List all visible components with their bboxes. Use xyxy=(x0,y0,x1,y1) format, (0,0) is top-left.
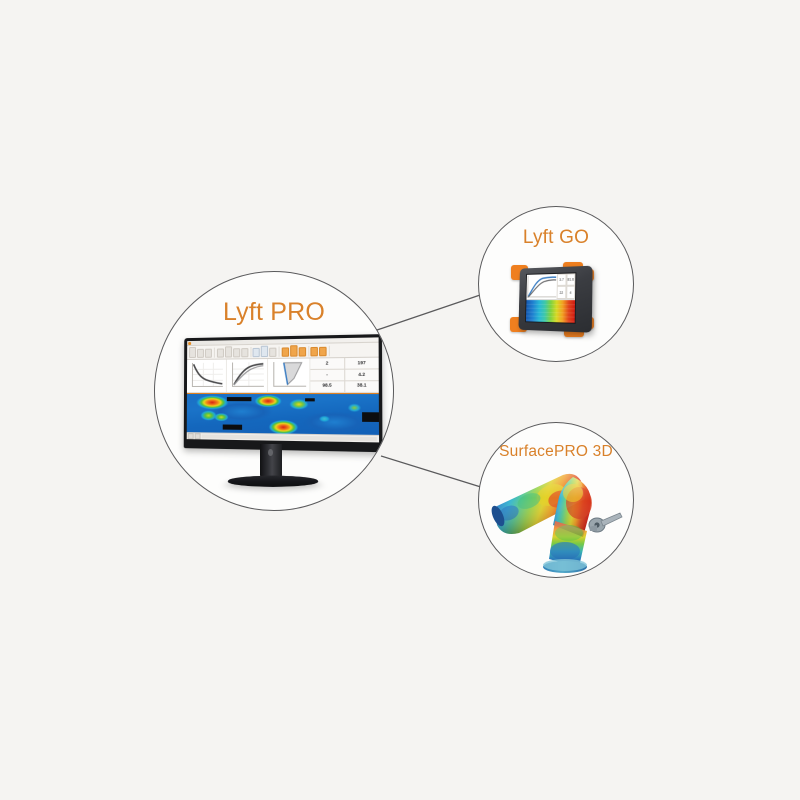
ribbon-icon[interactable] xyxy=(310,346,318,356)
plot-area xyxy=(192,363,223,387)
connector-lines xyxy=(0,0,800,800)
plot-area xyxy=(273,362,306,387)
tablet-readout-cell: 81.6 xyxy=(566,273,575,286)
readout-cell: 4.2 xyxy=(345,369,379,380)
bscan-heatmap[interactable] xyxy=(187,393,379,435)
readout-value: 197 xyxy=(358,361,366,366)
status-icon xyxy=(195,433,201,439)
ribbon-group-view[interactable] xyxy=(216,346,251,357)
status-icon xyxy=(188,433,194,439)
node-surfacepro-3d[interactable]: SurfacePRO 3D xyxy=(478,422,634,578)
plot-area xyxy=(232,362,264,387)
readout-cell: 197 xyxy=(345,358,379,369)
ribbon-group-file[interactable] xyxy=(189,347,215,357)
tablet-screen[interactable]: 3.7 81.6 22 4 xyxy=(525,272,576,324)
readout-value: 2 xyxy=(326,361,329,366)
tablet-readout-cell: 3.7 xyxy=(557,274,566,287)
node-lyft-go[interactable]: Lyft GO xyxy=(478,206,634,362)
ribbon-icon[interactable] xyxy=(319,346,327,356)
chart-polar-sector[interactable] xyxy=(268,359,310,392)
diagram-canvas: Lyft PRO xyxy=(0,0,800,800)
tablet-readout-row: 3.7 81.6 xyxy=(557,273,575,286)
ribbon-group-scan[interactable] xyxy=(281,346,309,357)
tablet-readout-cell: 4 xyxy=(566,286,575,299)
monitor-base xyxy=(226,476,321,487)
readout-value: - xyxy=(326,373,328,378)
monitor-bezel: 2 197 - 4.2 xyxy=(184,334,383,452)
tablet-chart-row: 3.7 81.6 22 4 xyxy=(526,273,575,300)
chart-panel-row: 2 197 - 4.2 xyxy=(187,358,379,393)
readout-value-grid: 2 197 - 4.2 xyxy=(311,358,379,392)
ribbon-icon[interactable] xyxy=(298,347,305,356)
readout-cell: 98.5 xyxy=(311,381,345,392)
readout-value: 38.1 xyxy=(357,384,367,389)
ribbon-icon[interactable] xyxy=(269,347,276,356)
readout-cell: 2 xyxy=(311,358,345,369)
readout-cell: 38.1 xyxy=(345,381,379,392)
chart-decay-curve[interactable] xyxy=(187,360,227,392)
connector-pro-to-go xyxy=(377,293,486,330)
node-lyft-pro[interactable]: Lyft PRO xyxy=(154,271,394,511)
bscan-gate-marker xyxy=(305,398,315,402)
readout-row: - 4.2 xyxy=(311,369,379,381)
readout-row: 2 197 xyxy=(311,358,379,370)
ribbon-icon[interactable] xyxy=(290,345,297,357)
tablet-readout-row: 22 4 xyxy=(557,286,575,299)
monitor-neck xyxy=(260,444,282,477)
chart-series-line xyxy=(193,363,223,386)
chart-growth-curve[interactable] xyxy=(227,359,268,392)
node-surfacepro-3d-label: SurfacePRO 3D xyxy=(479,443,633,461)
tablet-ascan-plot xyxy=(526,274,557,299)
monitor-screen: 2 197 - 4.2 xyxy=(187,337,379,442)
ribbon-icon[interactable] xyxy=(253,347,260,356)
ribbon-icon[interactable] xyxy=(197,348,204,357)
tablet-chart-series xyxy=(526,274,557,299)
ribbon-icon[interactable] xyxy=(189,346,196,357)
readout-row: 98.5 38.1 xyxy=(311,381,379,392)
chart-sector-shape xyxy=(274,362,306,386)
tablet-readout-grid: 3.7 81.6 22 4 xyxy=(557,273,576,299)
ribbon-icon[interactable] xyxy=(216,348,223,357)
bscan-gate-marker xyxy=(227,397,251,402)
ribbon-icon[interactable] xyxy=(205,348,212,357)
node-lyft-go-label: Lyft GO xyxy=(479,227,633,249)
node-lyft-pro-label: Lyft PRO xyxy=(155,298,393,327)
tablet-heatmap-strip xyxy=(526,300,575,323)
ribbon-icon[interactable] xyxy=(281,347,288,356)
rugged-tablet: 3.7 81.6 22 4 xyxy=(507,261,611,339)
ribbon-icon[interactable] xyxy=(241,348,248,357)
pipe-side-nozzle xyxy=(589,513,622,532)
ribbon-group-tools[interactable] xyxy=(253,346,280,357)
ribbon-icon[interactable] xyxy=(233,348,240,357)
readout-value: 98.5 xyxy=(322,384,331,389)
bscan-gate-marker xyxy=(223,425,242,430)
ribbon-icon[interactable] xyxy=(261,345,268,356)
connector-pro-to-3d xyxy=(381,456,484,488)
desktop-monitor: 2 197 - 4.2 xyxy=(184,338,372,488)
ribbon-group-report[interactable] xyxy=(310,345,329,356)
bscan-gate-marker xyxy=(363,413,379,422)
ribbon-icon[interactable] xyxy=(224,346,231,357)
pipe-3d-scan xyxy=(489,463,625,575)
readout-cell: - xyxy=(311,370,345,381)
status-text-area xyxy=(202,435,377,441)
readout-value: 4.2 xyxy=(358,372,365,377)
tablet-readout-cell: 22 xyxy=(557,286,566,299)
pipe-3d-render xyxy=(489,463,625,575)
chart-series-line xyxy=(233,362,264,385)
bscan-colormap xyxy=(187,394,379,435)
